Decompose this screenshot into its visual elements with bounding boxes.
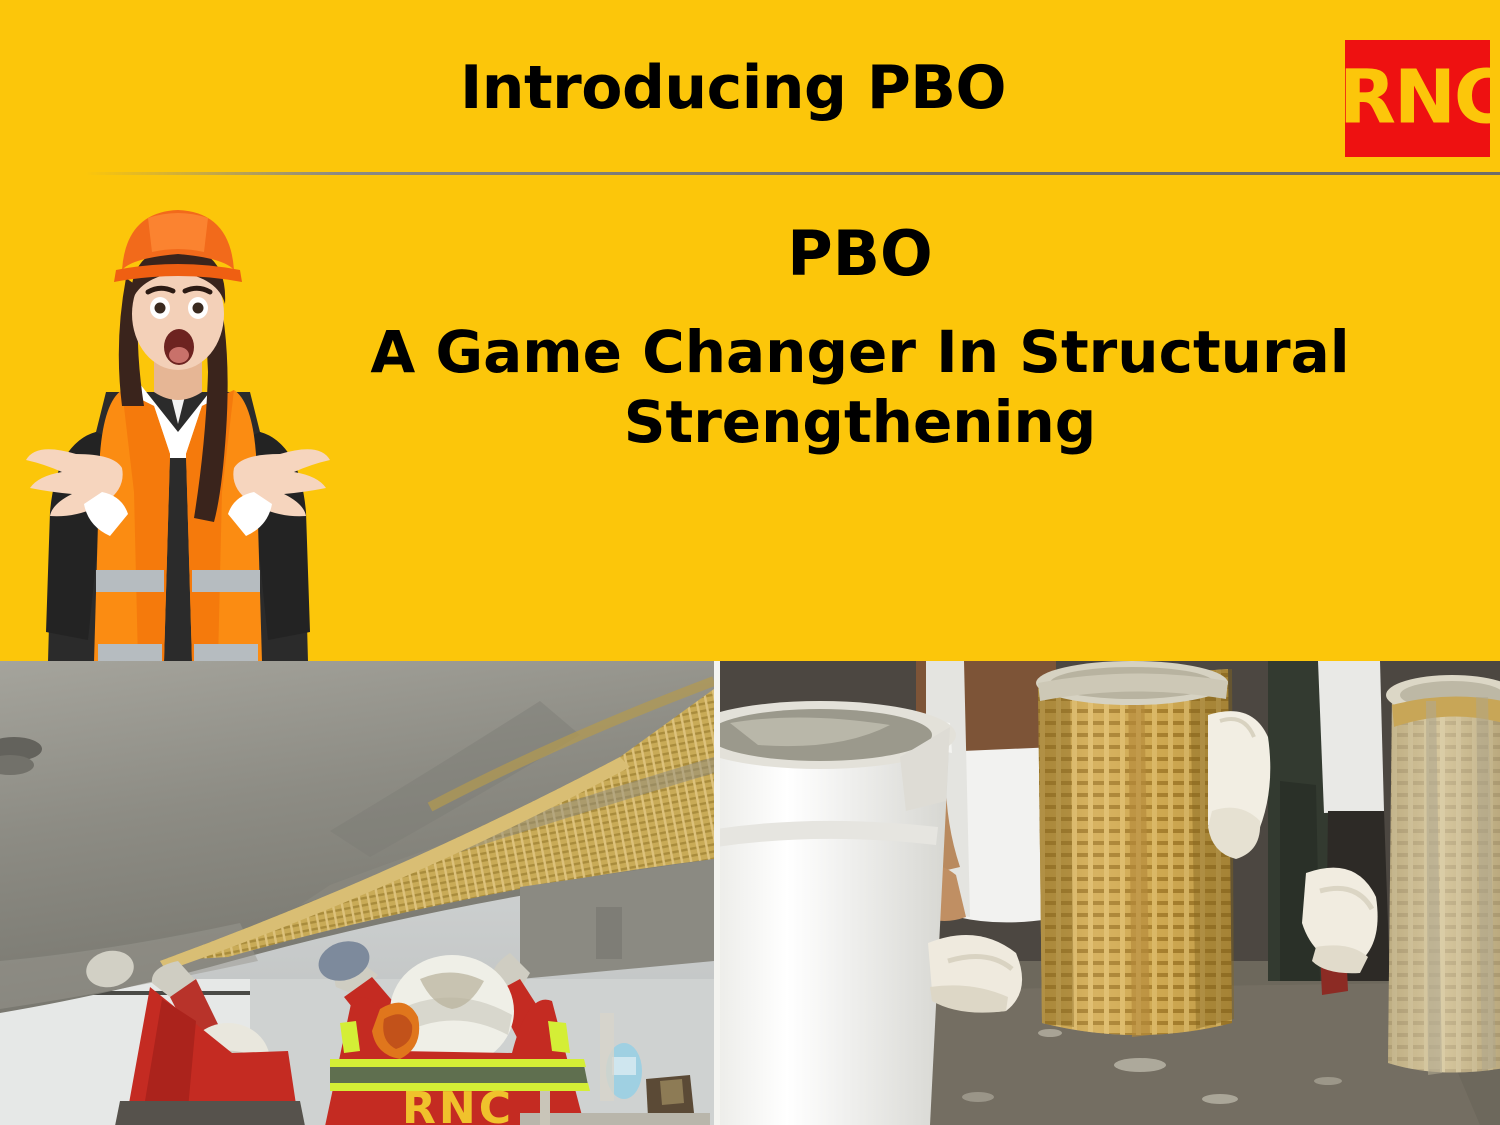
heading-pbo: PBO <box>350 215 1370 293</box>
svg-text:RNC: RNC <box>402 1083 514 1125</box>
body-text-block: PBO A Game Changer In Structural Strengt… <box>350 215 1370 457</box>
rnc-logo: RNC <box>1345 40 1490 157</box>
header-divider <box>85 172 1500 175</box>
slide: Introducing PBO RNC <box>0 0 1500 1125</box>
heading-subtitle-line2: Strengthening <box>350 387 1370 457</box>
photo-column-wrapping <box>720 661 1500 1125</box>
heading-subtitle-line1: A Game Changer In Structural <box>350 317 1370 387</box>
photo-soffit-application: RNC <box>0 661 714 1125</box>
page-title: Introducing PBO <box>0 52 1466 124</box>
rnc-logo-text: RNC <box>1339 60 1496 134</box>
surprised-worker-photo <box>18 192 338 662</box>
photo-strip: RNC <box>0 661 1500 1125</box>
